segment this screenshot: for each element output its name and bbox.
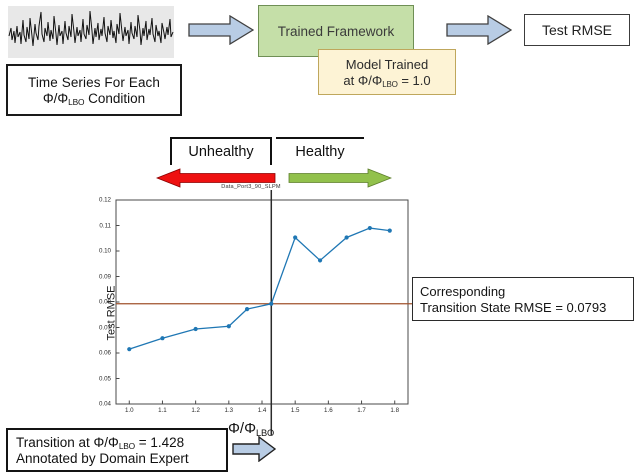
flow-arrow-1: [188, 15, 254, 45]
chart-ytick-label: 0.07: [99, 324, 111, 331]
model-trained-line2: at Φ/ΦLBO = 1.0: [343, 73, 430, 88]
chart-xtick-label: 1.8: [390, 407, 399, 414]
chart-ytick-label: 0.05: [99, 375, 111, 382]
transition-pointer-arrow: [232, 436, 276, 467]
model-trained-box: Model Trained at Φ/ΦLBO = 1.0: [318, 49, 456, 95]
model-trained-line1: Model Trained: [346, 57, 428, 72]
chart-ytick-label: 0.06: [99, 350, 111, 357]
chart-xtick-label: 1.3: [225, 407, 234, 414]
right-arrow-icon: [446, 15, 512, 45]
right-arrow-icon: [188, 15, 254, 45]
chart-xtick-label: 1.6: [324, 407, 333, 414]
time-series-signal-panel: [8, 6, 174, 58]
corresponding-line2: Transition State RMSE = 0.0793: [420, 300, 633, 315]
corresponding-rmse-annotation-box: Corresponding Transition State RMSE = 0.…: [412, 277, 634, 321]
trained-framework-label: Trained Framework: [278, 24, 395, 39]
transition-line2: Annotated by Domain Expert: [16, 451, 226, 466]
chart-ytick-label: 0.08: [99, 299, 111, 306]
transition-annotation-box: Transition at Φ/ΦLBO = 1.428 Annotated b…: [6, 428, 228, 472]
chart-ytick-label: 0.04: [99, 401, 111, 408]
right-arrow-icon: [232, 436, 276, 462]
time-series-caption-line2: Φ/ΦLBO Condition: [43, 91, 145, 106]
test-rmse-label: Test RMSE: [542, 22, 612, 38]
chart-xtick-label: 1.5: [291, 407, 300, 414]
test-rmse-chart: Data_Port3_90_SLPM Test RMSE Φ/ΦLBO 0.04…: [86, 190, 416, 435]
chart-xtick-label: 1.1: [158, 407, 167, 414]
transition-line1: Transition at Φ/ΦLBO = 1.428: [16, 435, 226, 450]
flow-arrow-2: [446, 15, 512, 45]
time-series-caption-line1: Time Series For Each: [28, 75, 160, 90]
unhealthy-region-label-box: Unhealthy: [170, 137, 272, 165]
chart-xtick-label: 1.0: [125, 407, 134, 414]
chart-ytick-label: 0.12: [99, 197, 111, 204]
chart-plot-area: [86, 190, 416, 435]
test-rmse-output-box: Test RMSE: [524, 14, 630, 46]
chart-xtick-label: 1.7: [357, 407, 366, 414]
corresponding-line1: Corresponding: [420, 284, 633, 299]
chart-xtick-label: 1.4: [258, 407, 267, 414]
healthy-region-label-box: Healthy: [276, 137, 364, 165]
unhealthy-label: Unhealthy: [188, 144, 253, 160]
time-series-caption-box: Time Series For Each Φ/ΦLBO Condition: [6, 64, 182, 116]
healthy-label: Healthy: [295, 144, 344, 160]
chart-title: Data_Port3_90_SLPM: [86, 184, 416, 190]
chart-ylabel: Test RMSE: [106, 285, 118, 340]
chart-ytick-label: 0.10: [99, 248, 111, 255]
time-series-waveform-icon: [8, 6, 174, 58]
chart-xtick-label: 1.2: [191, 407, 200, 414]
chart-ytick-label: 0.09: [99, 273, 111, 280]
chart-ytick-label: 0.11: [99, 222, 111, 229]
